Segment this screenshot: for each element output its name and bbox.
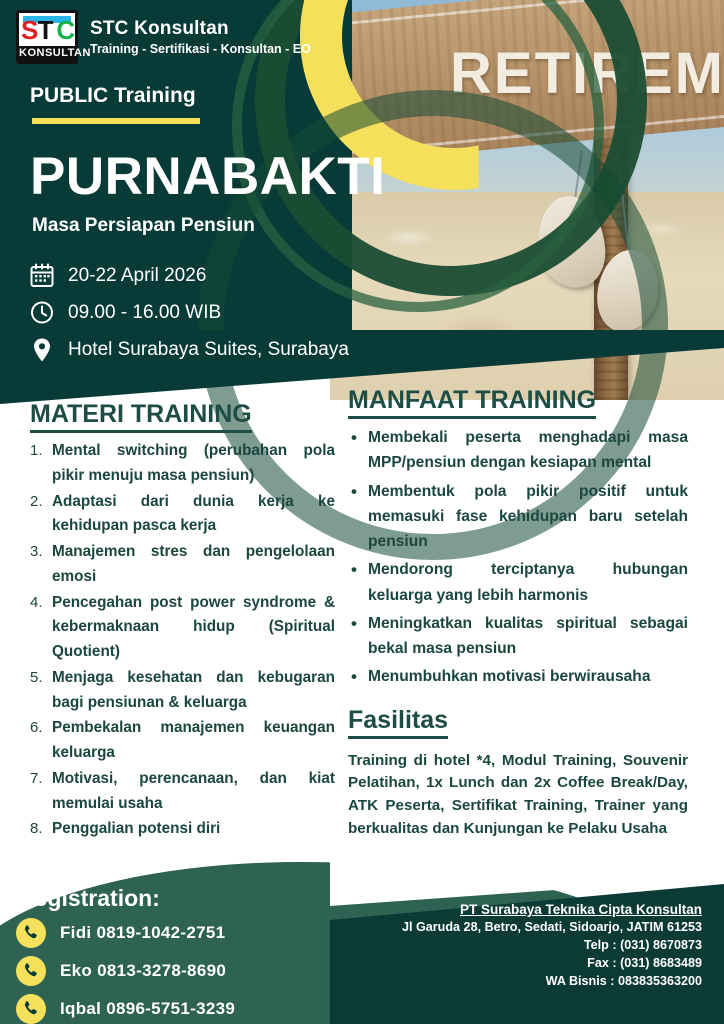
phone-icon[interactable] [16, 918, 46, 948]
logo-letter-s [19, 13, 38, 46]
event-date: 20-22 April 2026 [68, 265, 206, 287]
list-item: Manajemen stres dan pengelolaan emosi [30, 540, 335, 590]
yellow-rule [32, 118, 200, 124]
list-item: Penggalian potensi diri [30, 817, 335, 842]
phone-icon[interactable] [16, 994, 46, 1024]
list-item: Pembekalan manajemen keuangan keluarga [30, 716, 335, 766]
location-pin-icon [30, 337, 54, 363]
meta-row-venue: Hotel Surabaya Suites, Surabaya [30, 336, 349, 364]
logo-letter-t [38, 13, 57, 46]
list-item: Mendorong terciptanya hubungan keluarga … [348, 557, 688, 608]
list-item: Menjaga kesehatan dan kebugaran bagi pen… [30, 666, 335, 716]
contact-name: Eko 0813-3278-8690 [60, 961, 226, 981]
list-item: Motivasi, perencanaan, dan kiat memulai … [30, 767, 335, 817]
brand-name: STC Konsultan [90, 18, 311, 40]
kicker-public-training: PUBLIC Training [30, 84, 196, 108]
list-item: Pencegahan post power syndrome & keberma… [30, 591, 335, 665]
stc-logo-icon: KONSULTAN [16, 10, 78, 64]
page-title: PURNABAKTI [30, 146, 385, 207]
clock-icon [30, 300, 54, 326]
materi-list: Mental switching (perubahan pola pikir m… [30, 439, 335, 842]
logo-letter-c [56, 13, 75, 46]
logo-letters [19, 13, 75, 46]
contact-row[interactable]: Fidi 0819-1042-2751 [16, 918, 235, 948]
registration-contacts: Fidi 0819-1042-2751 Eko 0813-3278-8690 I… [16, 918, 235, 1024]
materi-section: MATERI TRAINING Mental switching (peruba… [30, 400, 335, 843]
fasilitas-body: Training di hotel *4, Modul Training, So… [348, 750, 688, 841]
materi-heading: MATERI TRAINING [30, 400, 252, 433]
meta-row-time: 09.00 - 16.00 WIB [30, 299, 349, 327]
event-time: 09.00 - 16.00 WIB [68, 302, 221, 324]
manfaat-section: MANFAAT TRAINING Membekali peserta mengh… [348, 386, 688, 841]
event-meta: 20-22 April 2026 09.00 - 16.00 WIB Hotel… [30, 262, 349, 373]
fasilitas-section: Fasilitas Training di hotel *4, Modul Tr… [348, 706, 688, 841]
registration-title: Registration: [18, 885, 160, 912]
manfaat-heading: MANFAAT TRAINING [348, 386, 596, 419]
contact-row[interactable]: Iqbal 0896-5751-3239 [16, 994, 235, 1024]
list-item: Membentuk pola pikir positif untuk memas… [348, 479, 688, 555]
list-item: Meningkatkan kualitas spiritual sebagai … [348, 611, 688, 662]
contact-name: Fidi 0819-1042-2751 [60, 923, 225, 943]
company-info: PT Surabaya Teknika Cipta Konsultan Jl G… [312, 902, 702, 991]
logo-wordmark: KONSULTAN [19, 46, 75, 61]
manfaat-list: Membekali peserta menghadapi masa MPP/pe… [348, 425, 688, 690]
event-venue: Hotel Surabaya Suites, Surabaya [68, 339, 349, 361]
phone-icon[interactable] [16, 956, 46, 986]
company-telp: Telp : (031) 8670873 [312, 937, 702, 955]
brand-block: KONSULTAN STC Konsultan Training - Serti… [16, 10, 311, 64]
list-item: Membekali peserta menghadapi masa MPP/pe… [348, 425, 688, 476]
company-fax: Fax : (031) 8683489 [312, 955, 702, 973]
contact-row[interactable]: Eko 0813-3278-8690 [16, 956, 235, 986]
brand-text: STC Konsultan Training - Sertifikasi - K… [90, 18, 311, 56]
page-subtitle: Masa Persiapan Pensiun [32, 215, 255, 237]
fasilitas-heading: Fasilitas [348, 706, 448, 739]
list-item: Menumbuhkan motivasi berwirausaha [348, 664, 688, 689]
poster-root: RETIREME KONSULTAN STC Konsultan Trainin… [0, 0, 724, 1024]
list-item: Adaptasi dari dunia kerja ke kehidupan p… [30, 490, 335, 540]
brand-tagline: Training - Sertifikasi - Konsultan - EO [90, 42, 311, 56]
contact-name: Iqbal 0896-5751-3239 [60, 999, 235, 1019]
company-whatsapp: WA Bisnis : 083835363200 [312, 973, 702, 991]
list-item: Mental switching (perubahan pola pikir m… [30, 439, 335, 489]
calendar-icon [30, 263, 54, 289]
company-address: Jl Garuda 28, Betro, Sedati, Sidoarjo, J… [312, 919, 702, 937]
meta-row-date: 20-22 April 2026 [30, 262, 349, 290]
company-name: PT Surabaya Teknika Cipta Konsultan [312, 902, 702, 917]
